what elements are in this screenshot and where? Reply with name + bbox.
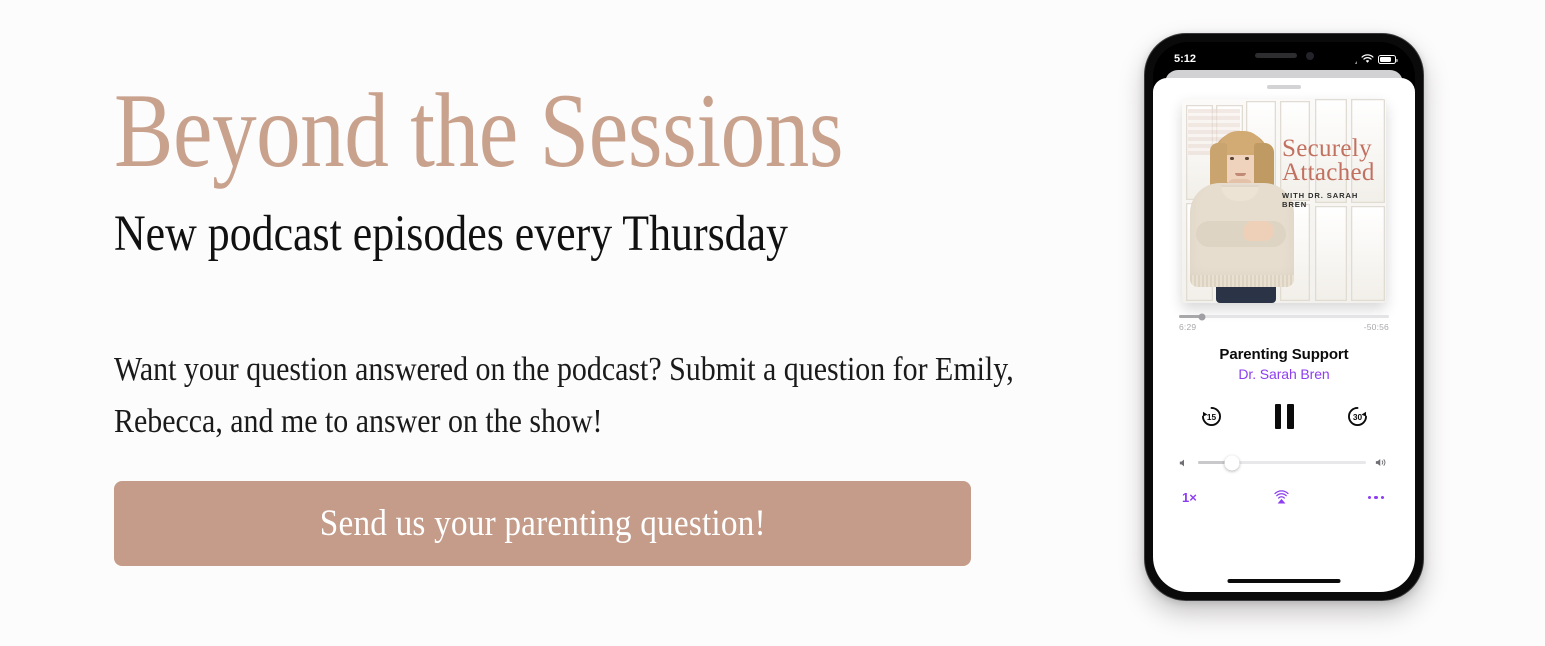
airplay-icon[interactable]	[1273, 489, 1290, 506]
progress-slider[interactable]	[1179, 315, 1389, 318]
artwork-title-line1: Securely	[1282, 137, 1382, 161]
send-parenting-question-button[interactable]: Send us your parenting question!	[114, 481, 971, 566]
progress-knob[interactable]	[1199, 313, 1206, 320]
skip-back-label: 15	[1206, 412, 1216, 422]
volume-up-button[interactable]	[1144, 162, 1145, 202]
skip-forward-label: 30	[1352, 412, 1362, 422]
playback-progress: 6:29 -50:56	[1179, 315, 1389, 332]
volume-slider[interactable]	[1198, 461, 1366, 464]
phone-mockup: 5:12	[1144, 33, 1424, 601]
progress-times: 6:29 -50:56	[1179, 322, 1389, 332]
host-photo	[1188, 117, 1296, 303]
artwork-title: Securely Attached	[1282, 137, 1382, 185]
home-indicator[interactable]	[1228, 579, 1341, 583]
battery-icon	[1378, 55, 1396, 65]
notch	[1208, 42, 1360, 69]
remaining-time: -50:56	[1364, 322, 1389, 332]
cta-button-label: Send us your parenting question!	[319, 502, 765, 545]
elapsed-time: 6:29	[1179, 322, 1196, 332]
track-title: Parenting Support	[1173, 346, 1395, 363]
transport-controls: 15 30	[1173, 402, 1395, 431]
phone-screen: 5:12	[1153, 42, 1415, 592]
power-button[interactable]	[1423, 184, 1424, 248]
volume-low-icon	[1179, 458, 1189, 468]
pause-button[interactable]	[1273, 402, 1296, 431]
mute-switch-button[interactable]	[1144, 120, 1145, 142]
skip-back-15-icon[interactable]: 15	[1199, 404, 1224, 429]
page-subtitle: New podcast episodes every Thursday	[114, 208, 788, 262]
volume-knob[interactable]	[1224, 455, 1239, 470]
page-title: Beyond the Sessions	[114, 78, 843, 184]
volume-control	[1173, 457, 1395, 468]
sheet-grabber-handle[interactable]	[1267, 85, 1301, 89]
playback-speed-button[interactable]: 1×	[1182, 490, 1197, 505]
phone-frame: 5:12	[1144, 33, 1424, 601]
player-options-row: 1×	[1173, 489, 1395, 506]
now-playing-sheet: Securely Attached WITH DR. SARAH BREN 6:…	[1153, 78, 1415, 592]
artwork-subtitle: WITH DR. SARAH BREN	[1282, 191, 1386, 209]
status-bar-time: 5:12	[1174, 53, 1196, 65]
promo-panel: Beyond the Sessions New podcast episodes…	[114, 0, 1074, 646]
track-artist[interactable]: Dr. Sarah Bren	[1173, 366, 1395, 382]
promo-body-text: Want your question answered on the podca…	[114, 344, 1029, 448]
front-camera-icon	[1306, 52, 1314, 60]
skip-forward-30-icon[interactable]: 30	[1345, 404, 1370, 429]
album-artwork[interactable]: Securely Attached WITH DR. SARAH BREN	[1182, 99, 1386, 303]
artwork-title-line2: Attached	[1282, 161, 1382, 185]
wifi-icon	[1361, 54, 1374, 64]
more-options-button[interactable]	[1366, 491, 1386, 504]
volume-high-icon	[1375, 457, 1389, 468]
volume-down-button[interactable]	[1144, 214, 1145, 254]
earpiece-speaker-icon	[1255, 53, 1297, 58]
